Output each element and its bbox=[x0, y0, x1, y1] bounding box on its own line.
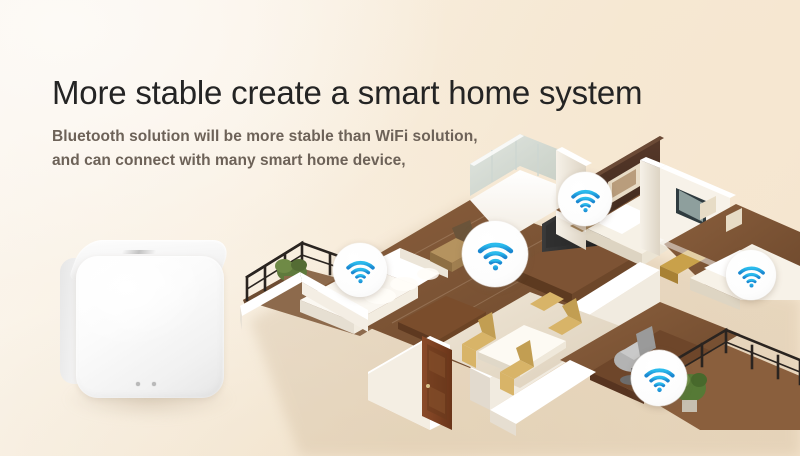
wifi-bedroom-right-icon bbox=[726, 250, 776, 300]
device-vent bbox=[121, 250, 156, 254]
front-door bbox=[422, 336, 452, 430]
wifi-bedroom-left-icon bbox=[558, 172, 612, 226]
headline-block: More stable create a smart home system B… bbox=[52, 74, 672, 174]
smart-home-banner: More stable create a smart home system B… bbox=[0, 0, 800, 456]
device-led-indicator-1 bbox=[136, 382, 140, 386]
subtitle-line-1: Bluetooth solution will be more stable t… bbox=[52, 125, 672, 149]
device-led-indicator-2 bbox=[152, 382, 156, 386]
smart-gateway-device bbox=[58, 238, 238, 416]
subtitle-line-2: and can connect with many smart home dev… bbox=[52, 149, 672, 173]
device-front-face bbox=[76, 256, 224, 398]
wifi-tv-area-icon bbox=[462, 221, 528, 287]
page-title: More stable create a smart home system bbox=[52, 74, 672, 112]
wifi-living-room-icon bbox=[333, 243, 387, 297]
wifi-study-icon bbox=[631, 350, 687, 406]
